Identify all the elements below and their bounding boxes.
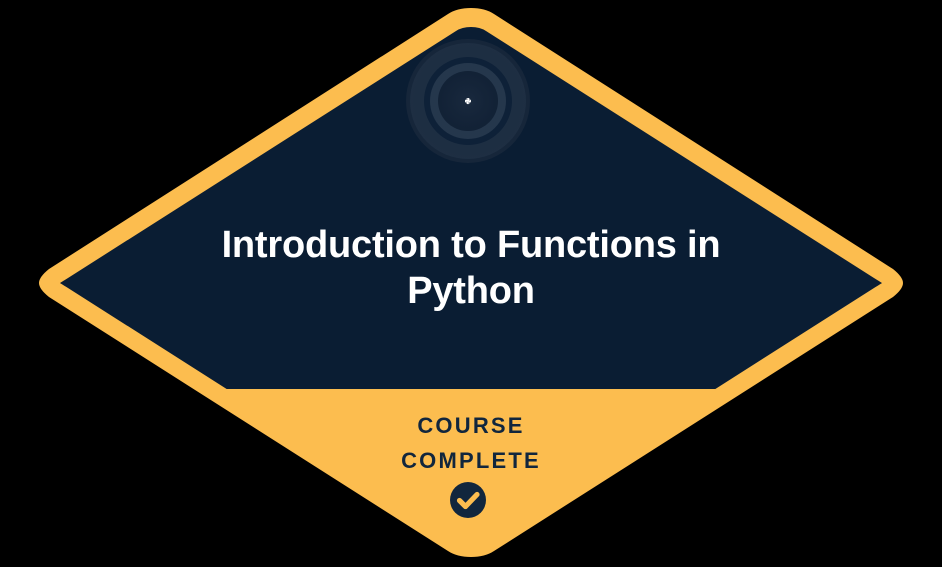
- logo-ring-glow: [406, 39, 530, 163]
- badge-graphic: [0, 0, 942, 567]
- check-circle-icon: [450, 482, 486, 518]
- course-completion-badge: Introduction to Functions in Python COUR…: [0, 0, 942, 567]
